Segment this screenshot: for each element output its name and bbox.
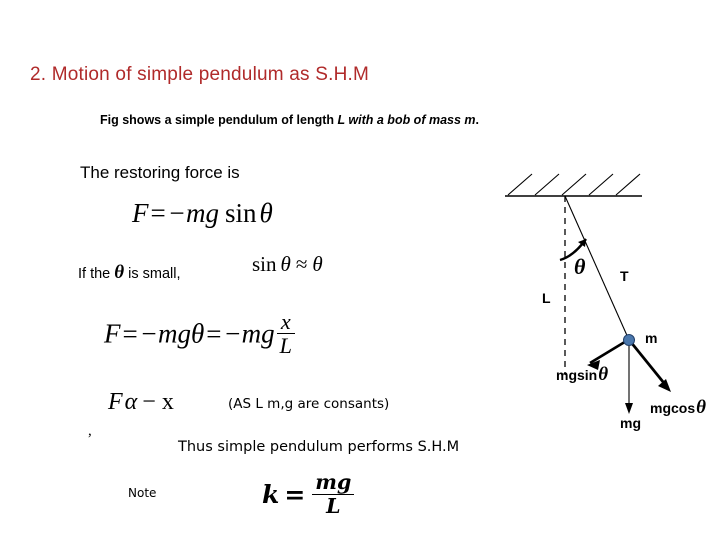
mgsin-text: mgsin <box>556 367 597 383</box>
equation-spring-constant: k=mgL <box>262 474 356 519</box>
eq4-rhs: − x <box>137 389 176 415</box>
equation-small-angle-force: F=−mgθ=−mgxL <box>104 312 297 361</box>
eq4-lhs: F <box>108 389 123 415</box>
caption-part-a: Fig shows a simple pendulum of length <box>100 113 338 127</box>
mgcos-text: mgcos <box>650 400 695 416</box>
label-weight: mg <box>620 415 641 431</box>
label-mass: m <box>645 330 657 346</box>
label-length: L <box>542 290 551 306</box>
small-angle-statement: If theθis small, <box>78 262 181 284</box>
eq1-lhs: F <box>132 198 149 228</box>
fraction-numerator: x <box>277 310 295 333</box>
fraction-denominator: L <box>277 333 295 358</box>
eq3-mid: −mg <box>140 319 191 349</box>
eq3-lhs: F <box>104 319 121 349</box>
eq2-sin: sin <box>252 252 277 276</box>
small-angle-before: If the <box>78 266 110 282</box>
restoring-force-label: The restoring force is <box>80 163 240 183</box>
mg-arrow-head-icon <box>625 403 633 414</box>
fraction-x-over-L: xL <box>277 310 295 359</box>
small-angle-after: is small, <box>128 266 180 282</box>
eq1-rhs: −mg <box>168 198 219 228</box>
conclusion-text: Thus simple pendulum performs S.H.M <box>178 439 459 455</box>
mgsin-theta: θ <box>597 364 608 385</box>
eq3-rhs: −mg <box>223 319 274 349</box>
fraction-mg-over-L: mgL <box>312 472 354 517</box>
equation-restoring-force: F=−mgsinθ <box>132 198 273 229</box>
label-tension: T <box>620 268 629 284</box>
label-angle-theta: θ <box>574 254 585 280</box>
eq1-sin: sin <box>219 198 257 228</box>
caption-part-c: with a bob of mass <box>345 113 464 127</box>
mgcos-theta: θ <box>695 397 706 418</box>
pendulum-bob <box>623 334 635 346</box>
label-force-tangential: mgsinθ <box>556 364 608 386</box>
note-label: Note <box>128 486 156 500</box>
eq3-equals1: = <box>121 319 140 349</box>
eqk-equals: = <box>279 480 310 509</box>
eq4-alpha: α <box>123 389 138 415</box>
eq3-equals2: = <box>204 319 223 349</box>
force-vector-mgsin <box>590 340 628 363</box>
page-title: 2. Motion of simple pendulum as S.H.M <box>30 64 369 86</box>
eqk-lhs: k <box>262 480 279 509</box>
equation-proportionality: Fα− x <box>108 389 176 416</box>
force-vector-mgcos <box>630 341 668 388</box>
constants-note: (AS L m,g are consants) <box>228 396 389 412</box>
eq2-approx: ≈ <box>291 252 313 276</box>
caption-part-e: . <box>476 113 479 127</box>
equation-sin-approximation: sinθ≈θ <box>252 252 323 277</box>
eq1-theta: θ <box>256 198 272 228</box>
label-force-radial: mgcosθ <box>650 397 706 419</box>
eq3-theta: θ <box>191 319 204 349</box>
theta-symbol: θ <box>110 262 128 283</box>
mgcos-arrow-head-icon <box>658 379 671 392</box>
eqk-denominator: L <box>312 494 354 518</box>
caption-length-symbol: L <box>338 113 345 127</box>
simple-pendulum-diagram: L T m θ mgsinθ mgcosθ mg <box>490 160 720 450</box>
eq2-theta2: θ <box>312 252 322 276</box>
eqk-numerator: mg <box>312 472 354 494</box>
stray-comma: , <box>88 423 92 440</box>
ceiling-hatching-icon <box>508 174 640 195</box>
figure-caption: Fig shows a simple pendulum of length L … <box>100 113 479 127</box>
caption-mass-symbol: m <box>464 113 475 127</box>
eq1-equals: = <box>149 198 168 228</box>
eq2-theta: θ <box>277 252 291 276</box>
slide-canvas: 2. Motion of simple pendulum as S.H.M Fi… <box>0 0 720 540</box>
